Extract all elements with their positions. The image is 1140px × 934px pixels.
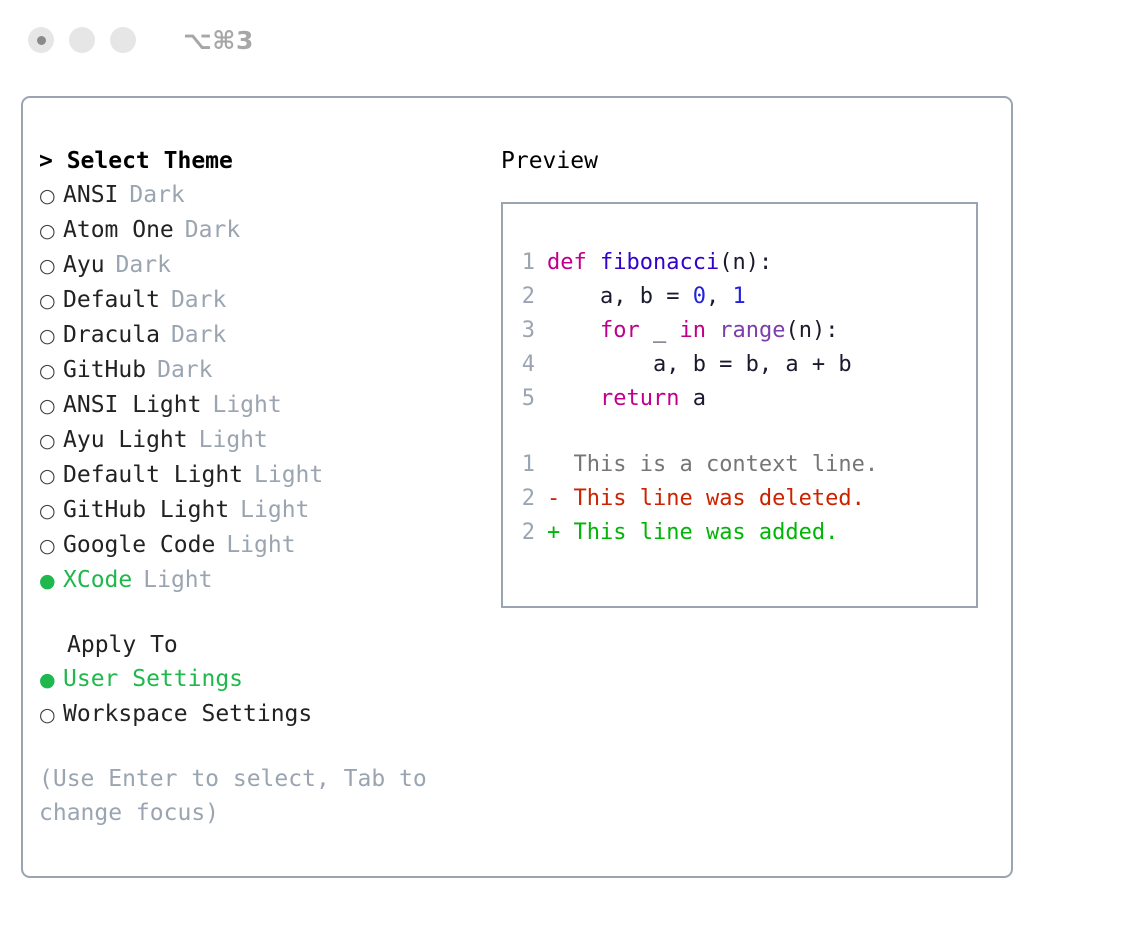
theme-variant: Light xyxy=(254,458,323,492)
diff-line-content: This is a context line. xyxy=(560,448,878,482)
diff-line-content: This line was added. xyxy=(560,516,838,550)
code-token-keyword: return xyxy=(600,386,679,411)
diff-line-number: 1 xyxy=(503,448,547,482)
theme-list-item-dracula[interactable]: ○ Dracula Dark xyxy=(39,318,469,353)
diff-line-marker: + xyxy=(547,516,560,550)
theme-name: ANSI xyxy=(63,178,118,212)
code-token-plain xyxy=(706,318,719,343)
code-line: 1 def fibonacci(n): xyxy=(503,246,976,280)
code-line-content: return a xyxy=(547,382,706,416)
radio-selected-icon: ● xyxy=(39,564,63,598)
code-token-plain: a, b = xyxy=(547,284,693,309)
code-token-plain: _ xyxy=(640,318,680,343)
theme-list-item-github[interactable]: ○ GitHub Dark xyxy=(39,353,469,388)
theme-variant: Dark xyxy=(129,178,184,212)
code-line-number: 3 xyxy=(503,314,547,348)
code-token-keyword: for xyxy=(600,318,640,343)
code-token-plain: (n): xyxy=(785,318,838,343)
theme-name: ANSI Light xyxy=(63,388,201,422)
theme-name: Ayu Light xyxy=(63,423,188,457)
radio-unselected-icon: ○ xyxy=(39,424,63,458)
theme-list-item-default[interactable]: ○ Default Dark xyxy=(39,283,469,318)
radio-unselected-icon: ○ xyxy=(39,179,63,213)
code-token-plain xyxy=(547,386,600,411)
code-line: 4 a, b = b, a + b xyxy=(503,348,976,382)
code-token-number: 1 xyxy=(732,284,745,309)
code-line-content: a, b = 0, 1 xyxy=(547,280,746,314)
apply-to-option-label: User Settings xyxy=(63,662,243,696)
code-line-number: 2 xyxy=(503,280,547,314)
theme-list-item-github-light[interactable]: ○ GitHub Light Light xyxy=(39,493,469,528)
theme-list-item-default-light[interactable]: ○ Default Light Light xyxy=(39,458,469,493)
code-line-content: for _ in range(n): xyxy=(547,314,838,348)
radio-unselected-icon: ○ xyxy=(39,459,63,493)
radio-selected-icon: ● xyxy=(39,663,63,697)
preview-heading: Preview xyxy=(501,144,991,178)
code-line: 5 return a xyxy=(503,382,976,416)
theme-variant: Dark xyxy=(185,213,240,247)
code-token-keyword: in xyxy=(679,318,706,343)
radio-unselected-icon: ○ xyxy=(39,284,63,318)
code-line: 2 a, b = 0, 1 xyxy=(503,280,976,314)
code-line-number: 4 xyxy=(503,348,547,382)
window-dot-active-indicator xyxy=(37,36,46,45)
apply-to-option-label: Workspace Settings xyxy=(63,697,312,731)
radio-unselected-icon: ○ xyxy=(39,214,63,248)
theme-list-item-ayu-light[interactable]: ○ Ayu Light Light xyxy=(39,423,469,458)
theme-variant: Dark xyxy=(116,248,171,282)
theme-list-item-ansi-light[interactable]: ○ ANSI Light Light xyxy=(39,388,469,423)
theme-name: Dracula xyxy=(63,318,160,352)
keyboard-hint-text: (Use Enter to select, Tab to change focu… xyxy=(39,762,449,830)
code-line: 3 for _ in range(n): xyxy=(503,314,976,348)
theme-variant: Light xyxy=(199,423,268,457)
diff-line-content: This line was deleted. xyxy=(560,482,865,516)
theme-name: Ayu xyxy=(63,248,105,282)
theme-name: Default xyxy=(63,283,160,317)
app-window: ⌥⌘3 > Select Theme ○ ANSI Dark ○ Atom On… xyxy=(0,0,1140,934)
theme-variant: Dark xyxy=(157,353,212,387)
code-token-plain xyxy=(547,318,600,343)
code-token-plain: , xyxy=(706,284,733,309)
apply-to-option-workspace-settings[interactable]: ○ Workspace Settings xyxy=(39,697,469,732)
theme-name: Default Light xyxy=(63,458,243,492)
theme-variant: Dark xyxy=(171,318,226,352)
select-theme-heading: > Select Theme xyxy=(39,144,469,178)
theme-name: Google Code xyxy=(63,528,215,562)
code-line-content: a, b = b, a + b xyxy=(547,348,852,382)
code-line-number: 5 xyxy=(503,382,547,416)
diff-line-deleted: 2 - This line was deleted. xyxy=(503,482,976,516)
radio-unselected-icon: ○ xyxy=(39,249,63,283)
theme-variant: Light xyxy=(226,528,295,562)
apply-to-heading: Apply To xyxy=(39,628,469,662)
radio-unselected-icon: ○ xyxy=(39,389,63,423)
preview-box: 1 def fibonacci(n): 2 a, b = 0, 1 3 for … xyxy=(501,202,978,608)
apply-to-section: Apply To ● User Settings ○ Workspace Set… xyxy=(39,628,469,732)
theme-list-item-google-code[interactable]: ○ Google Code Light xyxy=(39,528,469,563)
diff-line-number: 2 xyxy=(503,482,547,516)
theme-selector-panel: > Select Theme ○ ANSI Dark ○ Atom One Da… xyxy=(21,96,1013,878)
diff-line-marker: - xyxy=(547,482,560,516)
code-token-plain: a xyxy=(679,386,706,411)
theme-list-item-ansi[interactable]: ○ ANSI Dark xyxy=(39,178,469,213)
theme-variant: Dark xyxy=(171,283,226,317)
theme-name: XCode xyxy=(63,563,132,597)
radio-unselected-icon: ○ xyxy=(39,354,63,388)
radio-unselected-icon: ○ xyxy=(39,494,63,528)
code-line-number: 1 xyxy=(503,246,547,280)
theme-list-item-atom-one[interactable]: ○ Atom One Dark xyxy=(39,213,469,248)
radio-unselected-icon: ○ xyxy=(39,319,63,353)
theme-variant: Light xyxy=(240,493,309,527)
diff-line-number: 2 xyxy=(503,516,547,550)
window-dot-active[interactable] xyxy=(28,27,54,53)
theme-name: GitHub Light xyxy=(63,493,229,527)
window-dot-third[interactable] xyxy=(110,27,136,53)
diff-line-added: 2 + This line was added. xyxy=(503,516,976,550)
code-token-number: 0 xyxy=(693,284,706,309)
diff-line-context: 1 This is a context line. xyxy=(503,448,976,482)
theme-variant: Light xyxy=(212,388,281,422)
theme-variant: Light xyxy=(143,563,212,597)
preview-column: Preview 1 def fibonacci(n): 2 a, b = 0, … xyxy=(501,144,991,608)
code-blank-line xyxy=(503,416,976,448)
theme-list[interactable]: ○ ANSI Dark ○ Atom One Dark ○ Ayu Dark xyxy=(39,178,469,598)
keyboard-shortcut-label: ⌥⌘3 xyxy=(183,26,254,55)
code-token-plain: a, b = b, a + b xyxy=(547,352,852,377)
diff-line-marker xyxy=(547,448,560,482)
code-token-keyword: def xyxy=(547,250,600,275)
code-token-plain: (n): xyxy=(719,250,772,275)
title-bar: ⌥⌘3 xyxy=(0,0,1140,80)
radio-unselected-icon: ○ xyxy=(39,698,63,732)
theme-picker-column: > Select Theme ○ ANSI Dark ○ Atom One Da… xyxy=(39,144,469,830)
code-token-builtin: range xyxy=(719,318,785,343)
theme-list-item-xcode[interactable]: ● XCode Light xyxy=(39,563,469,598)
apply-to-option-user-settings[interactable]: ● User Settings xyxy=(39,662,469,697)
code-token-function: fibonacci xyxy=(600,250,719,275)
code-line-content: def fibonacci(n): xyxy=(547,246,772,280)
window-dot-second[interactable] xyxy=(69,27,95,53)
theme-list-item-ayu[interactable]: ○ Ayu Dark xyxy=(39,248,469,283)
theme-name: GitHub xyxy=(63,353,146,387)
theme-name: Atom One xyxy=(63,213,174,247)
radio-unselected-icon: ○ xyxy=(39,529,63,563)
